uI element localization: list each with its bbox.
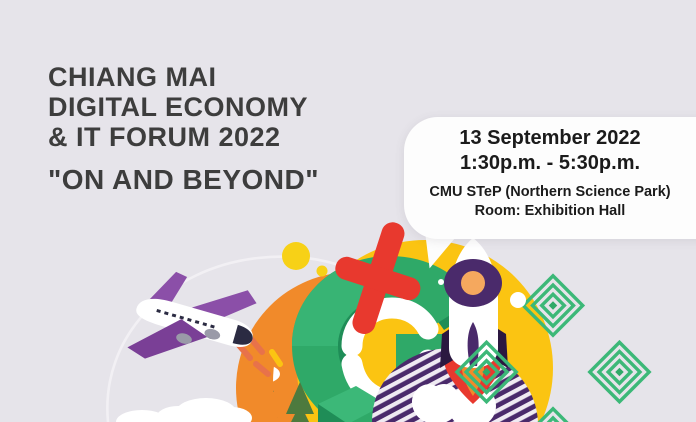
event-details: 13 September 2022 1:30p.m. - 5:30p.m. CM… xyxy=(404,126,696,221)
yellow-dot-large xyxy=(282,242,310,270)
title-line-3: & IT FORUM 2022 xyxy=(48,122,319,152)
event-poster: 13 September 2022 1:30p.m. - 5:30p.m. CM… xyxy=(0,0,696,422)
yellow-dot-small xyxy=(317,266,328,277)
white-dot xyxy=(510,292,526,308)
event-room: Room: Exhibition Hall xyxy=(404,202,696,221)
title-line-2: DIGITAL ECONOMY xyxy=(48,92,319,122)
event-date: 13 September 2022 xyxy=(404,126,696,151)
event-time: 1:30p.m. - 5:30p.m. xyxy=(404,151,696,176)
title-line-1: CHIANG MAI xyxy=(48,62,319,92)
event-venue: CMU STeP (Northern Science Park) xyxy=(404,183,696,202)
title-tagline: "ON AND BEYOND" xyxy=(48,165,319,195)
page-title: CHIANG MAI DIGITAL ECONOMY & IT FORUM 20… xyxy=(48,62,319,195)
white-dot-small xyxy=(438,279,444,285)
